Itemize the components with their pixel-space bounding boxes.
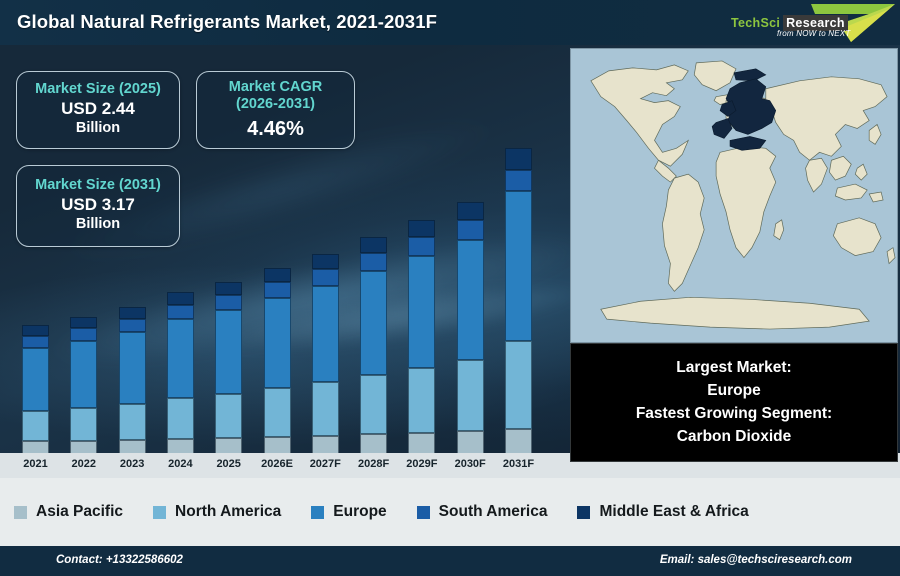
bar-segment-south-america xyxy=(70,328,97,341)
x-axis-tick-2029F: 2029F xyxy=(402,458,442,470)
legend-item-asia-pacific[interactable]: Asia Pacific xyxy=(14,503,123,521)
legend-label: South America xyxy=(439,503,548,521)
bar-segment-north-america xyxy=(505,341,532,429)
footer-contact[interactable]: Contact: +13322586602 xyxy=(56,554,183,566)
x-axis-tick-2028F: 2028F xyxy=(354,458,394,470)
x-axis: 202120222023202420252026E2027F2028F2029F… xyxy=(0,453,568,478)
page-title: Global Natural Refrigerants Market, 2021… xyxy=(17,11,437,33)
bar-segment-south-america xyxy=(360,253,387,271)
highlights-box: Largest Market: Europe Fastest Growing S… xyxy=(570,343,898,462)
header-bar: Global Natural Refrigerants Market, 2021… xyxy=(0,0,900,45)
x-axis-tick-2030F: 2030F xyxy=(450,458,490,470)
world-map-svg xyxy=(571,49,897,342)
logo-wordmark: TechSciResearch xyxy=(731,16,848,30)
bar-2024 xyxy=(167,292,194,455)
bar-segment-middle-east-africa xyxy=(264,268,291,282)
legend-item-south-america[interactable]: South America xyxy=(417,503,548,521)
bar-segment-south-america xyxy=(457,220,484,240)
bar-segment-south-america xyxy=(119,319,146,332)
bar-2031F xyxy=(505,148,532,455)
legend-label: Europe xyxy=(333,503,386,521)
bar-segment-north-america xyxy=(167,398,194,439)
bar-segment-asia-pacific xyxy=(360,434,387,455)
bar-segment-middle-east-africa xyxy=(167,292,194,305)
bar-segment-south-america xyxy=(408,237,435,256)
legend-item-europe[interactable]: Europe xyxy=(311,503,386,521)
bar-2022 xyxy=(70,317,97,455)
logo-tagline: from NOW to NEXT xyxy=(777,29,850,38)
bar-2030F xyxy=(457,202,484,455)
legend-swatch-icon xyxy=(14,506,27,519)
legend-swatch-icon xyxy=(577,506,590,519)
bar-segment-europe xyxy=(457,240,484,360)
x-axis-tick-2026E: 2026E xyxy=(257,458,297,470)
x-axis-tick-2024: 2024 xyxy=(160,458,200,470)
bar-segment-middle-east-africa xyxy=(70,317,97,328)
bar-segment-europe xyxy=(264,298,291,388)
largest-market-label: Largest Market: xyxy=(676,357,791,379)
bar-segment-north-america xyxy=(264,388,291,437)
bar-segment-asia-pacific xyxy=(408,433,435,455)
bar-segment-middle-east-africa xyxy=(215,282,242,295)
legend-item-middle-east-africa[interactable]: Middle East & Africa xyxy=(577,503,748,521)
x-axis-tick-2022: 2022 xyxy=(64,458,104,470)
bar-segment-middle-east-africa xyxy=(119,307,146,319)
x-axis-tick-2021: 2021 xyxy=(16,458,56,470)
bar-segment-south-america xyxy=(312,269,339,286)
bar-segment-south-america xyxy=(22,336,49,348)
bar-2028F xyxy=(360,237,387,455)
bar-segment-south-america xyxy=(264,282,291,298)
bar-segment-south-america xyxy=(505,170,532,191)
footer-bar: Contact: +13322586602 Email: sales@techs… xyxy=(0,546,900,576)
bar-segment-middle-east-africa xyxy=(457,202,484,220)
bar-segment-north-america xyxy=(457,360,484,431)
fastest-segment-label: Fastest Growing Segment: xyxy=(636,403,832,425)
bar-2025 xyxy=(215,282,242,455)
legend-swatch-icon xyxy=(153,506,166,519)
legend-swatch-icon xyxy=(417,506,430,519)
x-axis-tick-2027F: 2027F xyxy=(305,458,345,470)
brand-logo[interactable]: TechSciResearch from NOW to NEXT xyxy=(719,2,897,44)
bar-2029F xyxy=(408,220,435,455)
x-axis-tick-2025: 2025 xyxy=(209,458,249,470)
bar-2027F xyxy=(312,254,339,455)
bar-segment-south-america xyxy=(215,295,242,310)
bar-segment-south-america xyxy=(167,305,194,319)
bar-segment-north-america xyxy=(360,375,387,434)
bar-2023 xyxy=(119,307,146,455)
bar-segment-north-america xyxy=(215,394,242,438)
footer-email[interactable]: Email: sales@techsciresearch.com xyxy=(660,554,852,566)
x-axis-tick-2031F: 2031F xyxy=(499,458,539,470)
bar-segment-middle-east-africa xyxy=(505,148,532,170)
legend-label: Middle East & Africa xyxy=(599,503,748,521)
bar-segment-europe xyxy=(312,286,339,382)
bar-segment-europe xyxy=(119,332,146,404)
legend-item-north-america[interactable]: North America xyxy=(153,503,281,521)
chart-legend: Asia PacificNorth AmericaEuropeSouth Ame… xyxy=(0,478,900,546)
bar-segment-europe xyxy=(408,256,435,368)
bar-segment-middle-east-africa xyxy=(360,237,387,253)
bar-segment-europe xyxy=(70,341,97,408)
bar-segment-middle-east-africa xyxy=(408,220,435,237)
bar-segment-asia-pacific xyxy=(457,431,484,455)
bar-segment-north-america xyxy=(408,368,435,433)
legend-label: North America xyxy=(175,503,281,521)
bar-segment-europe xyxy=(215,310,242,394)
bar-segment-middle-east-africa xyxy=(22,325,49,336)
bar-2021 xyxy=(22,325,49,455)
bar-segment-europe xyxy=(360,271,387,375)
bar-segment-asia-pacific xyxy=(505,429,532,455)
x-axis-tick-2023: 2023 xyxy=(112,458,152,470)
bar-segment-europe xyxy=(505,191,532,341)
legend-swatch-icon xyxy=(311,506,324,519)
bar-segment-north-america xyxy=(119,404,146,440)
fastest-segment-value: Carbon Dioxide xyxy=(677,426,792,448)
bar-segment-middle-east-africa xyxy=(312,254,339,269)
infographic-page: Global Natural Refrigerants Market, 2021… xyxy=(0,0,900,576)
legend-label: Asia Pacific xyxy=(36,503,123,521)
bar-segment-north-america xyxy=(70,408,97,441)
world-map xyxy=(570,48,898,343)
bar-segment-europe xyxy=(22,348,49,411)
bar-segment-north-america xyxy=(22,411,49,441)
logo-tech-text: TechSci xyxy=(731,16,780,30)
stacked-bar-chart xyxy=(0,45,568,455)
bar-segment-europe xyxy=(167,319,194,398)
largest-market-value: Europe xyxy=(707,380,760,402)
bar-segment-north-america xyxy=(312,382,339,436)
bar-2026E xyxy=(264,268,291,455)
